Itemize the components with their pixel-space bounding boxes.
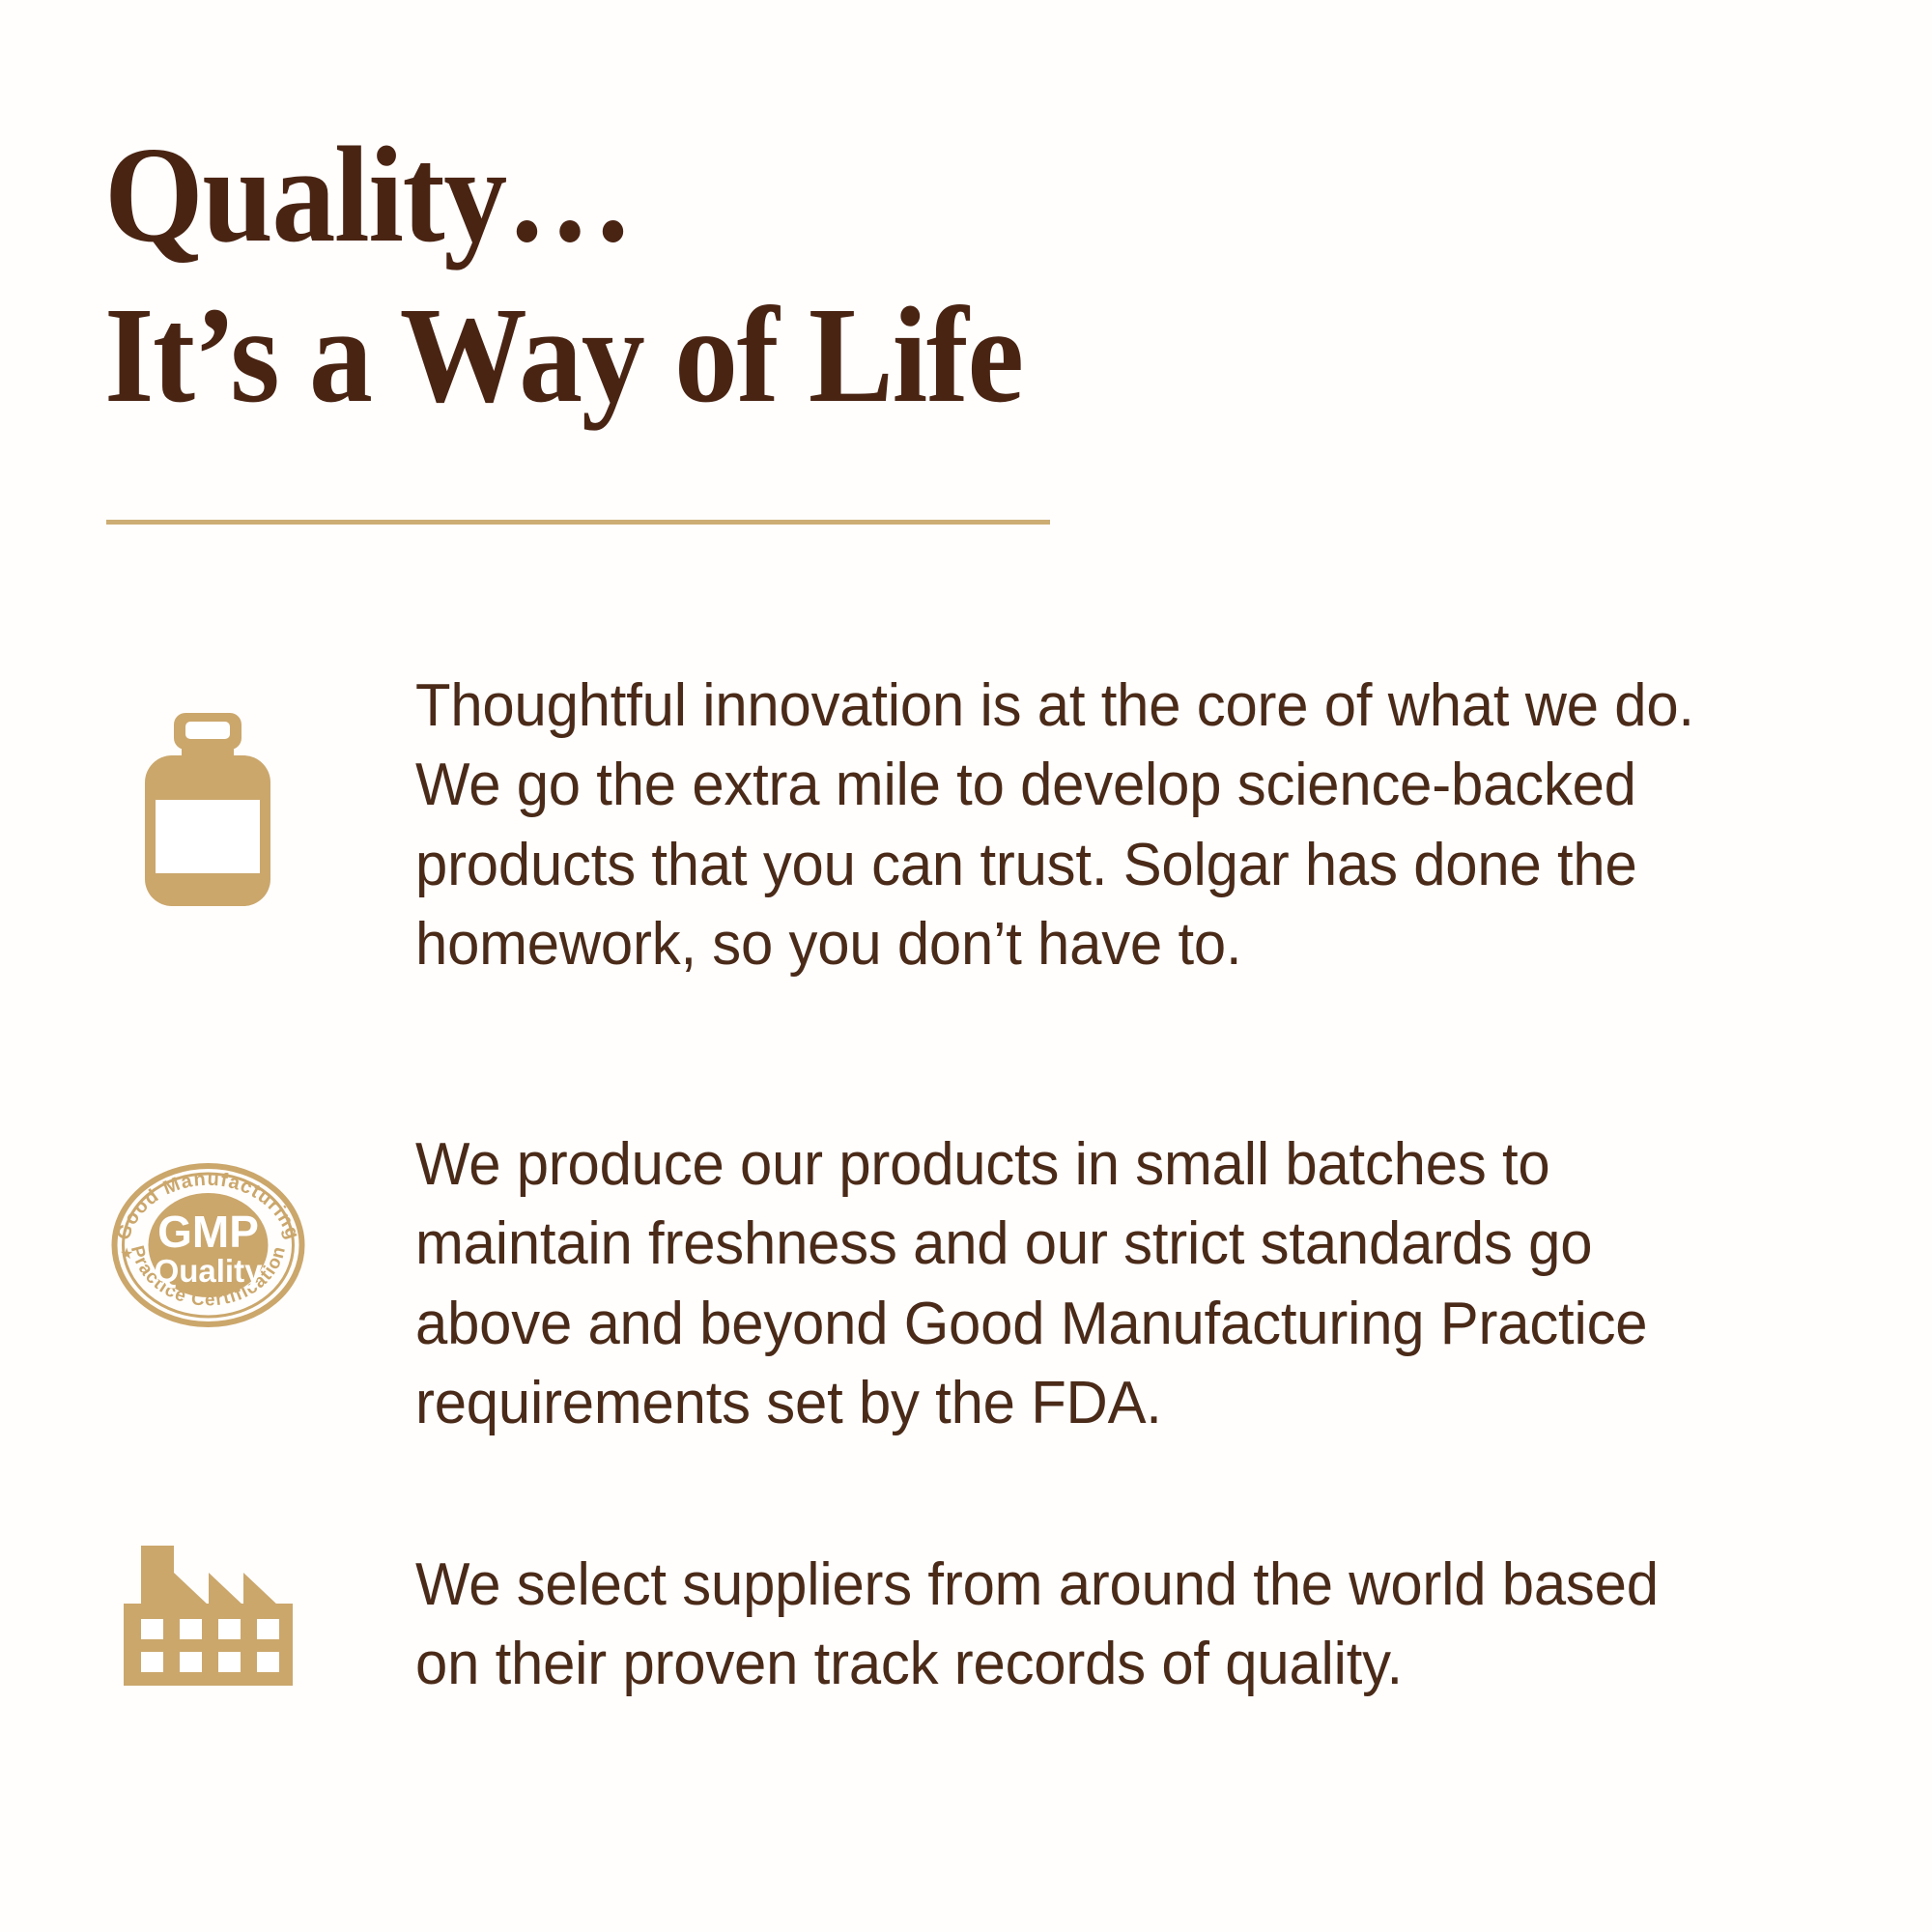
feature-paragraph-1: Thoughtful innovation is at the core of … <box>415 667 1720 985</box>
gmp-quality-seal-icon: Good Manufacturing Practice Certificatio… <box>104 1162 312 1328</box>
feature-row-suppliers: We select suppliers from around the worl… <box>0 1546 1932 1705</box>
supplement-bottle-icon <box>135 713 280 906</box>
factory-icon <box>124 1546 293 1686</box>
page-title-line-1: Quality… <box>104 114 1452 274</box>
feature-paragraph-3: We select suppliers from around the worl… <box>415 1546 1720 1705</box>
page-title-line-2: It’s a Way of Life <box>104 274 1452 435</box>
icon-cell-1 <box>0 667 415 906</box>
feature-row-innovation: Thoughtful innovation is at the core of … <box>0 667 1932 985</box>
quality-promo-page: Quality… It’s a Way of Life <box>0 0 1932 1932</box>
seal-center-quality: Quality <box>154 1253 263 1289</box>
feature-paragraph-2: We produce our products in small batches… <box>415 1125 1720 1444</box>
seal-center-gmp: GMP <box>157 1207 259 1257</box>
page-title: Quality… It’s a Way of Life <box>104 114 1553 435</box>
text-cell-2: We produce our products in small batches… <box>415 1125 1932 1444</box>
gold-divider <box>106 520 1050 525</box>
feature-row-gmp: Good Manufacturing Practice Certificatio… <box>0 1125 1932 1444</box>
seal-star-icon: ★ <box>120 1244 133 1263</box>
text-cell-1: Thoughtful innovation is at the core of … <box>415 667 1932 985</box>
icon-cell-2: Good Manufacturing Practice Certificatio… <box>0 1125 415 1328</box>
icon-cell-3 <box>0 1546 415 1686</box>
text-cell-3: We select suppliers from around the worl… <box>415 1546 1932 1705</box>
